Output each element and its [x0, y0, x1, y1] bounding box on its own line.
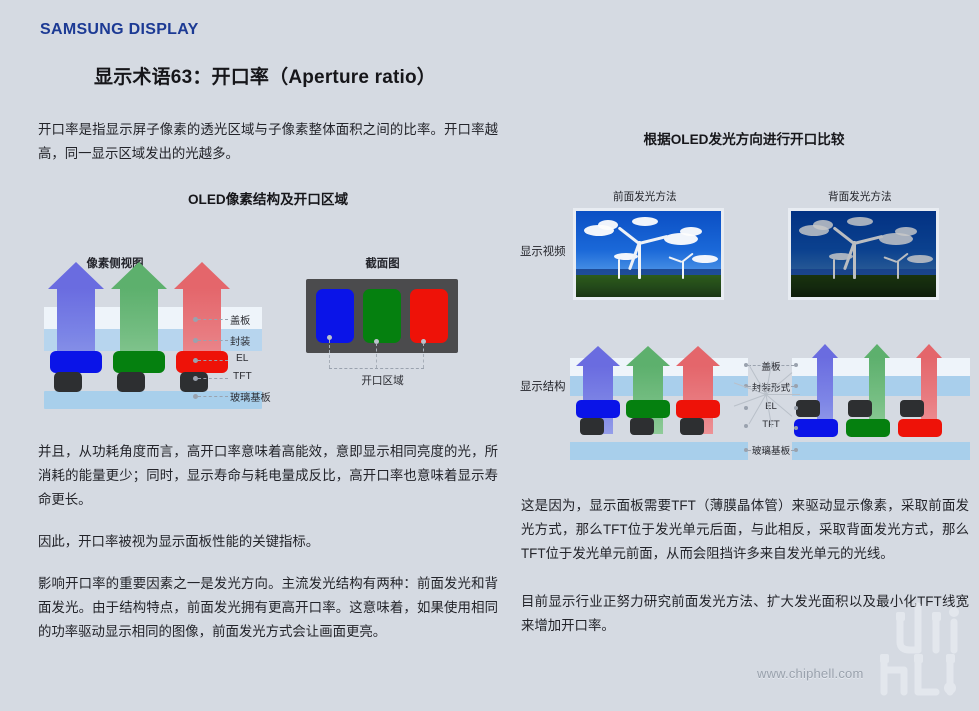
el-block-green: [626, 400, 670, 418]
emission-structure-comparison-diagram: 盖板 封装形式 EL TFT 玻璃基板: [570, 338, 970, 466]
leader-line-cover: [198, 319, 228, 321]
tft-block-3: [680, 418, 704, 435]
photo-front-emission: [573, 208, 724, 300]
arrow-head: [48, 262, 104, 289]
pixel-side-view-diagram: 像素侧视图: [40, 255, 270, 405]
tft-block-3: [180, 372, 208, 392]
turbine-mast-small: [833, 259, 835, 279]
left-paragraph-2: 并且，从功耗角度而言，高开口率意味着高能效，意即显示相同亮度的光，所消耗的能量更…: [38, 440, 498, 512]
glass-substrate-band: [792, 442, 970, 460]
column-header-back-emission: 背面发光方法: [828, 189, 892, 204]
el-block-red: [898, 419, 942, 437]
cross-section-diagram: 截面图 开口区域: [300, 255, 465, 405]
tft-block-2: [848, 400, 872, 417]
arrow-head: [864, 344, 890, 358]
layer-label-glass-substrate: 玻璃基板: [230, 389, 271, 404]
turbine-mast-small: [618, 259, 620, 279]
row-label-display-structure: 显示结构: [520, 378, 566, 394]
subpixel-green: [363, 289, 401, 343]
subpixel-red: [410, 289, 448, 343]
cloud-shape: [680, 227, 702, 236]
leader-line-encap: [198, 340, 228, 342]
el-block-red: [176, 351, 228, 373]
grass-layer: [576, 275, 721, 297]
aperture-leader-red: [423, 343, 425, 368]
left-column: 开口率是指显示屏子像素的透光区域与子像素整体面积之间的比率。开口率越高，同一显示…: [38, 118, 498, 208]
arrow-head: [626, 346, 670, 366]
leader-line-glass: [198, 396, 228, 398]
tft-block-3: [900, 400, 924, 417]
cloud-shape: [895, 227, 917, 236]
page-title: 显示术语63：开口率（Aperture ratio）: [94, 62, 436, 89]
aperture-leader-green: [376, 343, 378, 368]
el-block-red: [676, 400, 720, 418]
layer-label-tft: TFT: [233, 371, 252, 382]
turbine-mast-small: [682, 261, 684, 279]
right-paragraph-1: 这是因为，显示面板需要TFT（薄膜晶体管）来驱动显示像素，采取前面发光方式，那么…: [521, 494, 969, 566]
left-lower-text: 并且，从功耗角度而言，高开口率意味着高能效，意即显示相同亮度的光，所消耗的能量更…: [38, 440, 498, 662]
front-emission-structure: [570, 338, 748, 466]
crossing-leader-star: [766, 394, 767, 395]
cloud-shape: [907, 255, 933, 263]
column-header-front-emission: 前面发光方法: [613, 189, 677, 204]
slide-page: SAMSUNG DISPLAY 显示术语63：开口率（Aperture rati…: [0, 0, 979, 711]
left-section-title: OLED像素结构及开口区域: [38, 188, 498, 208]
brand-logo-text: SAMSUNG DISPLAY: [40, 21, 199, 39]
arrow-head: [111, 262, 167, 289]
arrow-head: [576, 346, 620, 366]
back-emission-structure: [792, 338, 970, 466]
layer-label-encapsulation: 封装: [230, 333, 250, 348]
leader-dot-tft-right: [794, 406, 798, 410]
cloud-shape: [598, 220, 618, 230]
watermark-url: www.chiphell.com: [757, 666, 864, 681]
tft-block-1: [580, 418, 604, 435]
el-block-green: [113, 351, 165, 373]
cloud-shape: [632, 217, 658, 226]
chiphell-logo-icon: [866, 598, 972, 702]
right-column: 根据OLED发光方向进行开口比较: [518, 128, 970, 148]
glass-substrate-band: [570, 442, 748, 460]
grass-layer: [791, 275, 936, 297]
cloud-shape: [692, 255, 718, 263]
el-block-green: [846, 419, 890, 437]
arrow-head: [174, 262, 230, 289]
arrow-head: [916, 344, 942, 358]
layer-label-glass-substrate: 玻璃基板: [732, 443, 810, 457]
aperture-area-label: 开口区域: [300, 373, 465, 388]
tft-block-2: [630, 418, 654, 435]
right-section-title: 根据OLED发光方向进行开口比较: [518, 128, 970, 148]
photo-back-emission: [788, 208, 939, 300]
el-block-blue: [576, 400, 620, 418]
layer-label-el: EL: [236, 353, 248, 364]
arrow-head: [812, 344, 838, 358]
tft-block-2: [117, 372, 145, 392]
leader-line-tft: [198, 378, 228, 380]
turbine-mast-small: [897, 261, 899, 279]
cloud-shape: [847, 217, 873, 226]
cloud-shape: [813, 220, 833, 230]
arrow-head: [676, 346, 720, 366]
left-intro-paragraph: 开口率是指显示屏子像素的透光区域与子像素整体面积之间的比率。开口率越高，同一显示…: [38, 118, 498, 166]
aperture-leader-blue: [329, 340, 331, 368]
el-block-blue: [50, 351, 102, 373]
leader-line-el: [198, 360, 228, 362]
subpixel-blue: [316, 289, 354, 343]
cross-section-caption: 截面图: [300, 255, 465, 271]
left-paragraph-4: 影响开口率的重要因素之一是发光方向。主流发光结构有两种：前面发光和背面发光。由于…: [38, 572, 498, 644]
tft-block-1: [54, 372, 82, 392]
aperture-leader-join: [329, 368, 424, 370]
left-paragraph-3: 因此，开口率被视为显示面板性能的关键指标。: [38, 530, 498, 554]
layer-label-cover: 盖板: [230, 312, 250, 327]
row-label-display-video: 显示视频: [520, 243, 566, 259]
shared-layer-labels: 盖板 封装形式 EL TFT 玻璃基板: [748, 338, 794, 466]
